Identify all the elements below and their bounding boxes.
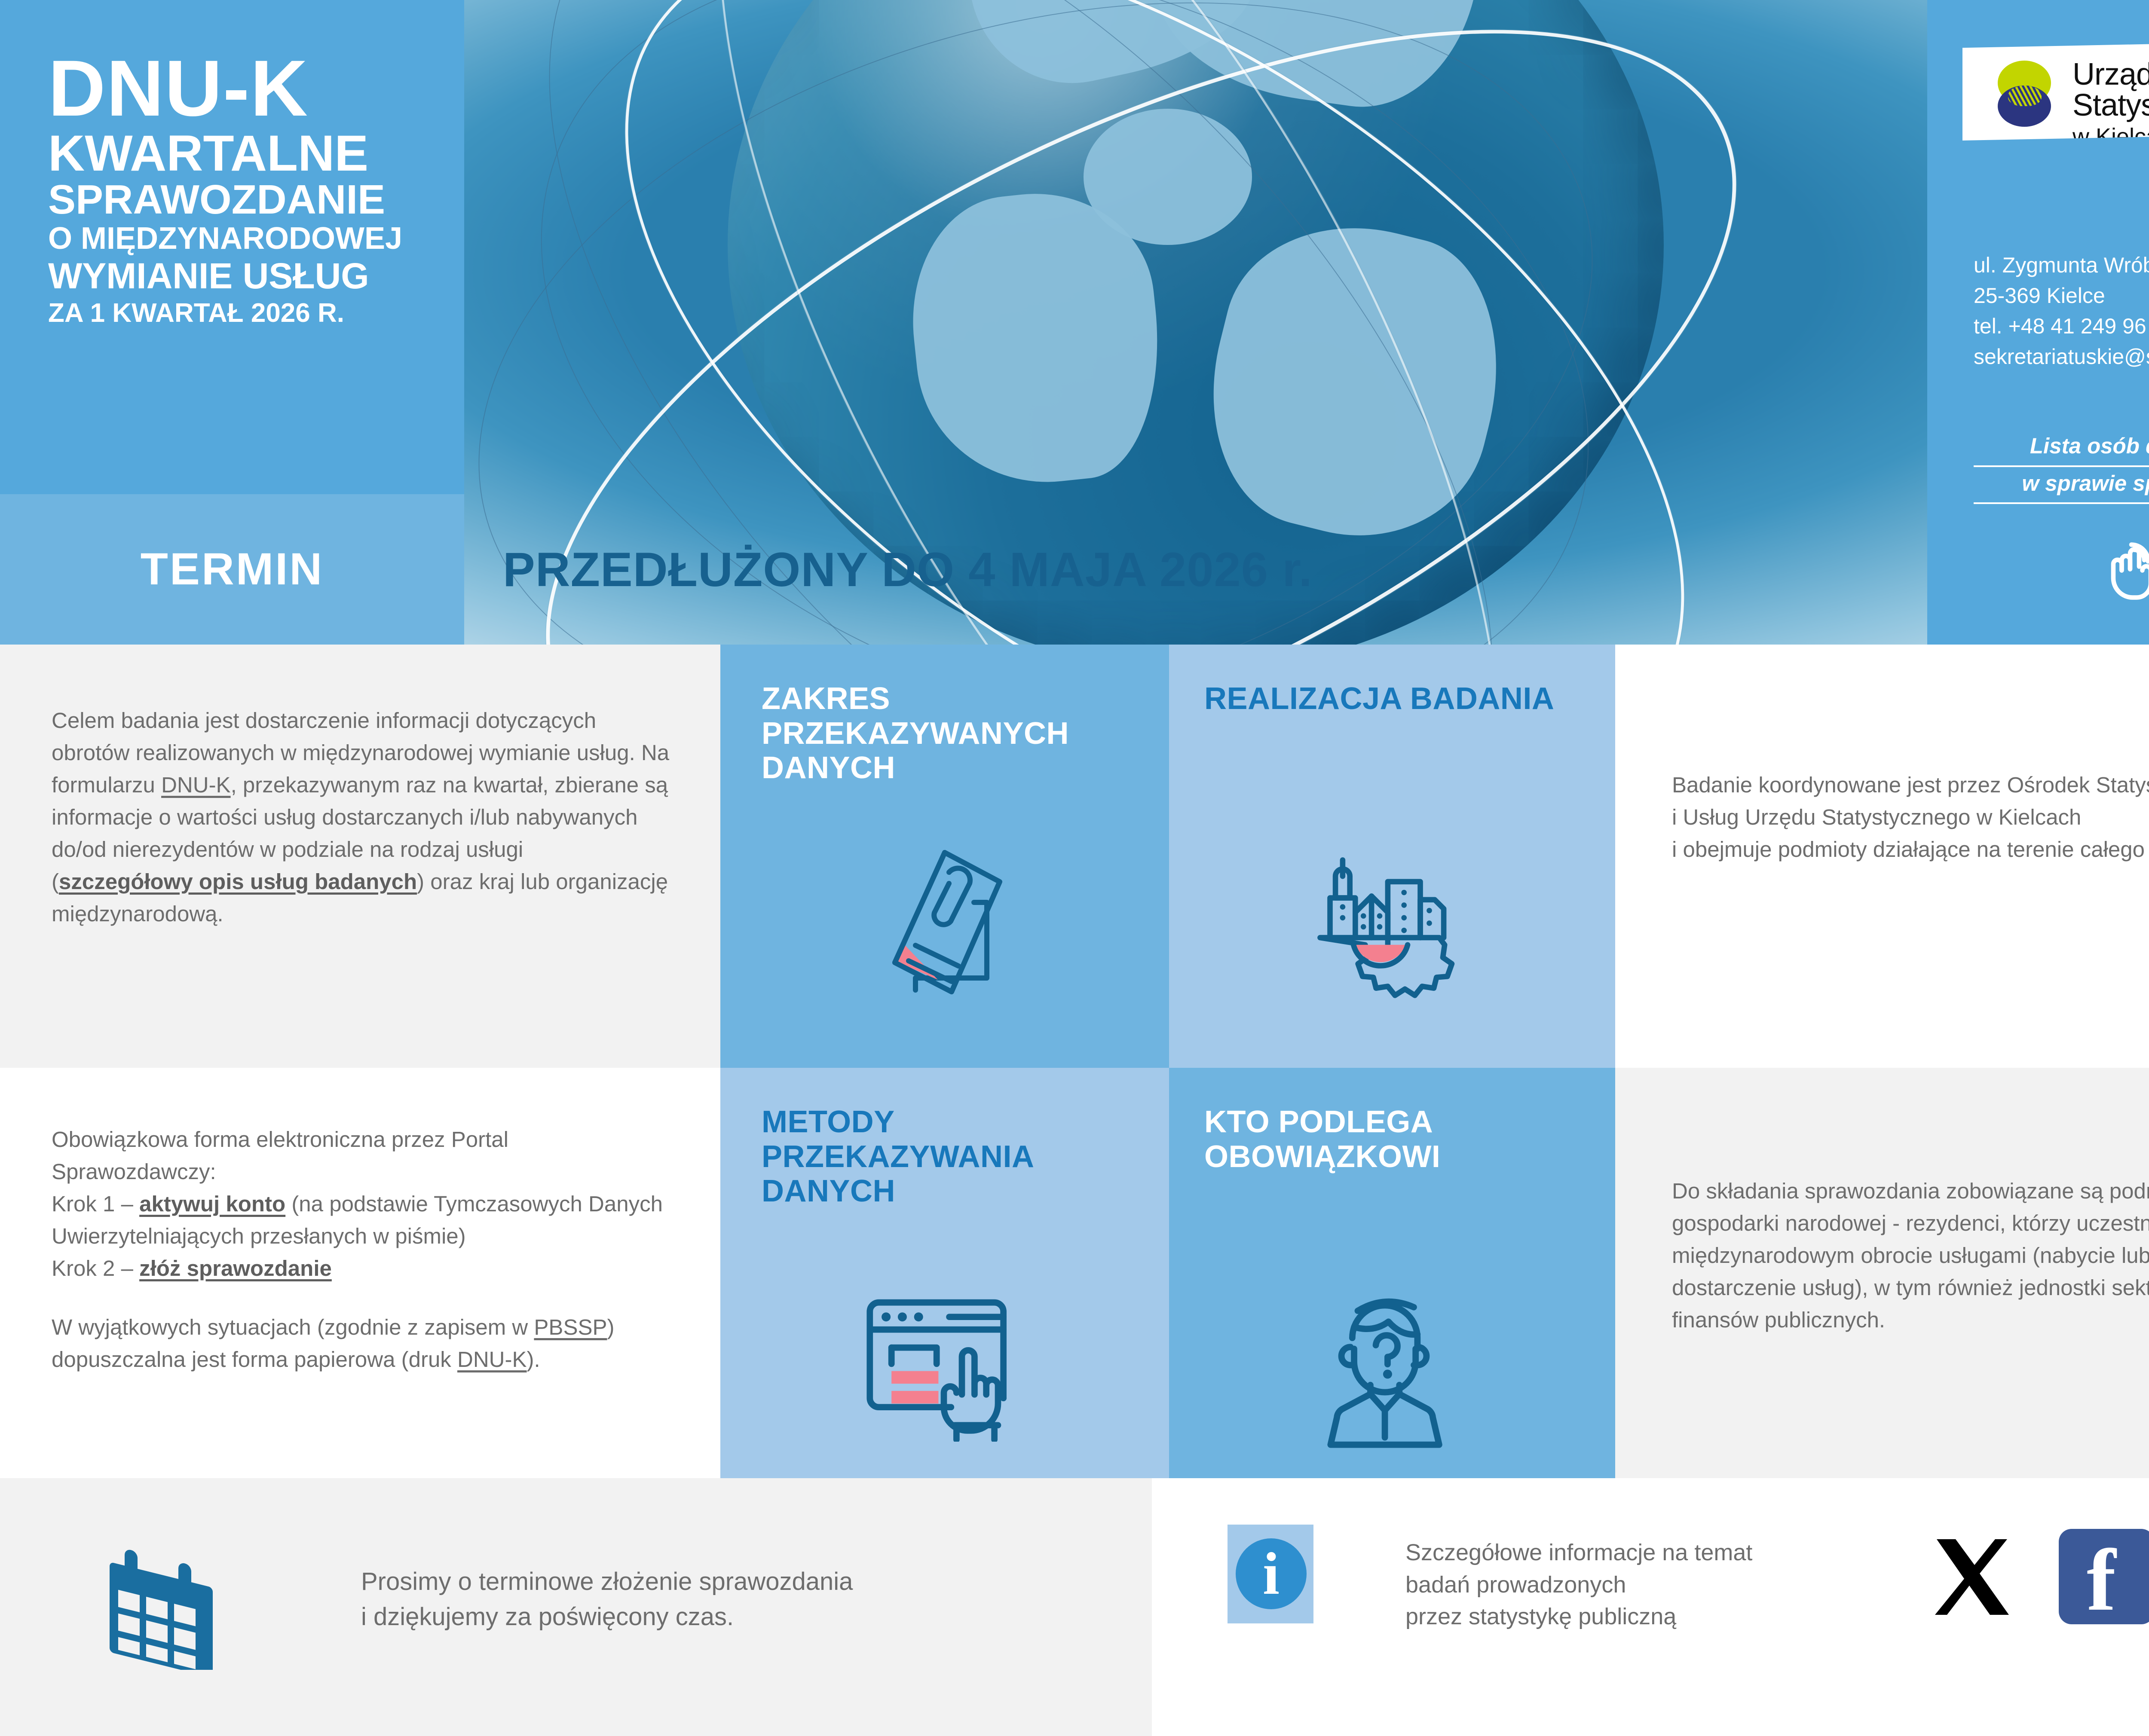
purpose-link-dnuk[interactable]: DNU-K — [161, 773, 231, 797]
x-twitter-logo-icon[interactable] — [1930, 1534, 2016, 1620]
title-line-wymianie: WYMIANIE USŁUG — [48, 257, 435, 295]
purpose-link-opis[interactable]: szczegółowy opis usług badanych — [59, 869, 417, 894]
panel-scope: ZAKRES PRZEKAZYWANYCH DANYCH — [720, 645, 1169, 1068]
office-logo-card: Urząd Statystyczny w Kielcach — [1962, 41, 2149, 141]
panel-who: KTO PODLEGA OBOWIĄZKOWI — [1169, 1068, 1615, 1478]
methods-link-pbssp[interactable]: PBSSP — [534, 1315, 607, 1339]
panel-realization-heading: REALIZACJA BADANIA — [1204, 682, 1561, 716]
panel-realization: REALIZACJA BADANIA — [1169, 645, 1615, 1068]
deadline-value: PRZEDŁUŻONY DO 4 MAJA 2026 r. — [503, 494, 1534, 645]
who-text: Do składania sprawozdania zobowiązane są… — [1672, 1175, 2149, 1336]
document-with-paperclip-icon — [862, 834, 1026, 1006]
footer-info-line3: przez statystykę publiczną — [1405, 1601, 1921, 1633]
contact-list-link-line1: Lista osób do kontaktu — [1974, 430, 2149, 467]
title-line-sprawozdanie: SPRAWOZDANIE — [48, 179, 435, 221]
methods-intro: Obowiązkowa forma elektroniczna przez Po… — [52, 1124, 675, 1188]
calendar-icon — [95, 1541, 223, 1670]
realization-text: Badanie koordynowane jest przez Ośrodek … — [1672, 769, 2149, 866]
footer-info-text: Szczegółowe informacje na temat badań pr… — [1405, 1537, 1921, 1633]
panel-methods: METODY PRZEKAZYWANIA DANYCH — [720, 1068, 1169, 1478]
title-line-miedzynarodowej: O MIĘDZYNARODOWEJ — [48, 223, 435, 255]
methods-exception-c: ). — [527, 1347, 540, 1372]
methods-step2-link[interactable]: złóż sprawozdanie — [139, 1256, 332, 1281]
deadline-label: TERMIN — [0, 494, 464, 645]
methods-link-dnuk[interactable]: DNU-K — [457, 1347, 527, 1372]
content-grid: Celem badania jest dostarczenie informac… — [0, 645, 2149, 1478]
methods-step1-pre: Krok 1 – — [52, 1192, 139, 1216]
footer-info-line2: badań prowadzonych — [1405, 1569, 1921, 1601]
info-icon: i — [1236, 1538, 1307, 1609]
methods-step2-pre: Krok 2 – — [52, 1256, 139, 1281]
panel-methods-heading: METODY PRZEKAZYWANIA DANYCH — [762, 1105, 1136, 1209]
pointing-hand-icon — [2102, 529, 2149, 602]
person-with-question-mark-icon — [1298, 1265, 1470, 1450]
methods-exception-a: W wyjątkowych sytuacjach (zgodnie z zapi… — [52, 1315, 534, 1339]
footer-info-line1: Szczegółowe informacje na temat — [1405, 1537, 1921, 1569]
panel-who-heading: KTO PODLEGA OBOWIĄZKOWI — [1204, 1105, 1574, 1174]
office-name: Urząd Statystyczny w Kielcach — [2072, 59, 2149, 149]
office-address: ul. Zygmunta Wróblewskiego 2, 25-369 Kie… — [1974, 250, 2149, 372]
who-text-cell: Do składania sprawozdania zobowiązane są… — [1615, 1068, 2149, 1478]
footer-thanks-line1: Prosimy o terminowe złożenie sprawozdani… — [361, 1564, 1092, 1599]
contact-list-link-line2: w sprawie sprawozdania — [1974, 467, 2149, 504]
logo-stripe-overlap — [2008, 86, 2042, 106]
footer-thanks: Prosimy o terminowe złożenie sprawozdani… — [361, 1564, 1092, 1635]
hero-section: DNU-K KWARTALNE SPRAWOZDANIE O MIĘDZYNAR… — [0, 0, 2149, 645]
browser-window-with-hand-icon — [854, 1270, 1034, 1442]
city-in-gear-icon — [1289, 829, 1470, 1010]
title-line-dnuk: DNU-K — [48, 52, 435, 125]
title-line-kwartalne: KWARTALNE — [48, 128, 435, 179]
facebook-f-glyph: f — [2087, 1536, 2116, 1624]
contact-list-link[interactable]: Lista osób do kontaktu w sprawie sprawoz… — [1974, 430, 2149, 504]
infographic-poster: DNU-K KWARTALNE SPRAWOZDANIE O MIĘDZYNAR… — [0, 0, 2149, 1736]
title-line-kwartal: ZA 1 KWARTAŁ 2026 R. — [48, 299, 435, 328]
footer-thanks-line2: i dziękujemy za poświęcony czas. — [361, 1599, 1092, 1635]
panel-scope-heading: ZAKRES PRZEKAZYWANYCH DANYCH — [762, 682, 1127, 785]
realization-text-cell: Badanie koordynowane jest przez Ośrodek … — [1615, 645, 2149, 1068]
page-title: DNU-K KWARTALNE SPRAWOZDANIE O MIĘDZYNAR… — [48, 52, 435, 328]
purpose-text-cell: Celem badania jest dostarczenie informac… — [0, 645, 720, 1068]
urzad-statystyczny-logo-icon — [1994, 61, 2059, 125]
office-name-line1: Urząd Statystyczny — [2072, 59, 2149, 121]
methods-text-cell: Obowiązkowa forma elektroniczna przez Po… — [0, 1068, 720, 1478]
methods-step1-link[interactable]: aktywuj konto — [139, 1192, 285, 1216]
